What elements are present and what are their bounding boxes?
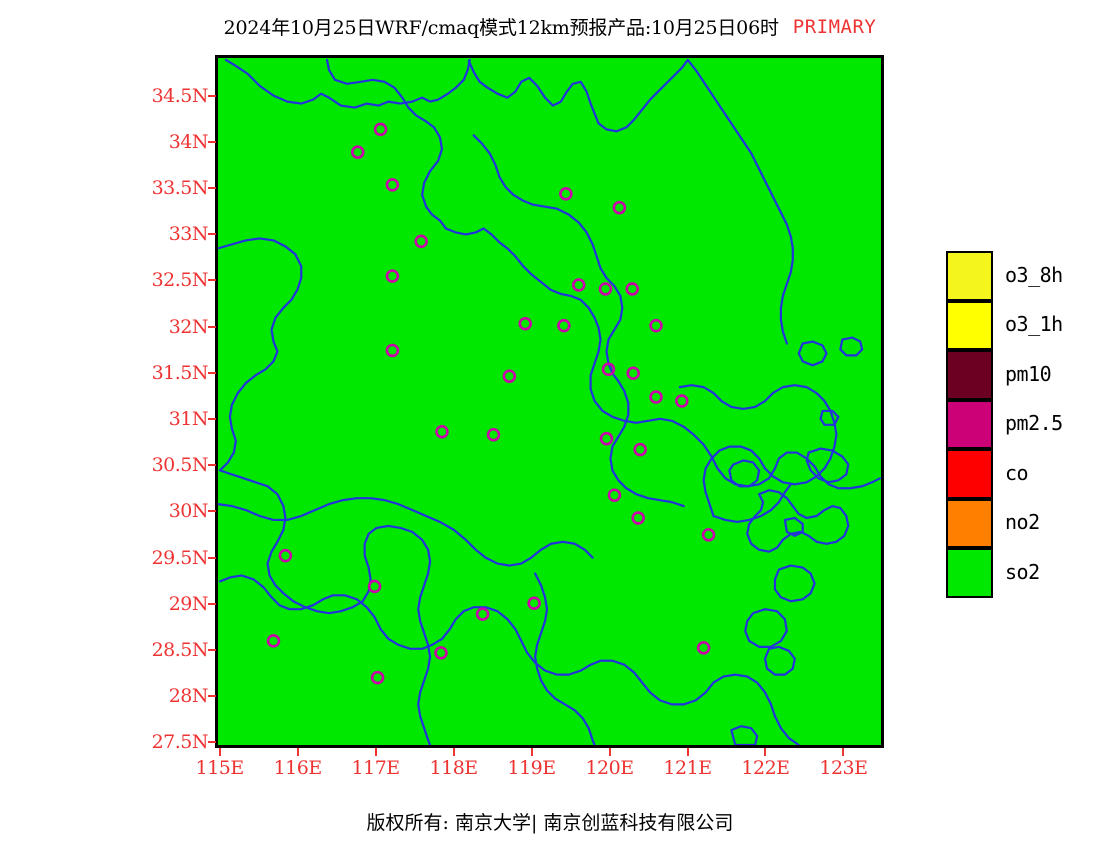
- x-axis-tick-mark: [297, 748, 299, 756]
- x-axis-tick-label: 120E: [585, 757, 633, 779]
- legend-color-swatch: [946, 499, 993, 549]
- x-axis-tick-label: 119E: [507, 757, 555, 779]
- legend-item-label: o3_8h: [1005, 263, 1063, 287]
- legend-item[interactable]: co: [946, 448, 1096, 498]
- legend-color-swatch: [946, 449, 993, 499]
- x-axis-tick-mark: [764, 748, 766, 756]
- legend-item[interactable]: pm10: [946, 349, 1096, 399]
- legend-item-label: pm10: [1005, 362, 1051, 386]
- x-axis-tick-mark: [687, 748, 689, 756]
- legend-item-label: no2: [1005, 510, 1040, 534]
- x-axis-tick-mark: [453, 748, 455, 756]
- legend-item[interactable]: no2: [946, 498, 1096, 548]
- x-axis-tick-label: 115E: [196, 757, 244, 779]
- legend-item-label: so2: [1005, 560, 1040, 584]
- legend-color-swatch: [946, 400, 993, 450]
- pollutant-legend[interactable]: o3_8ho3_1hpm10pm2.5cono2so2: [946, 250, 1096, 597]
- x-axis-tick-mark: [609, 748, 611, 756]
- legend-item-label: o3_1h: [1005, 312, 1063, 336]
- legend-item-label: co: [1005, 461, 1028, 485]
- x-axis-tick-mark: [531, 748, 533, 756]
- legend-color-swatch: [946, 350, 993, 400]
- x-axis-tick-mark: [375, 748, 377, 756]
- legend-item[interactable]: so2: [946, 547, 1096, 597]
- legend-item[interactable]: o3_1h: [946, 300, 1096, 350]
- legend-item[interactable]: o3_8h: [946, 250, 1096, 300]
- x-axis-tick-label: 123E: [819, 757, 867, 779]
- x-axis-tick-mark: [842, 748, 844, 756]
- x-axis-tick-label: 122E: [741, 757, 789, 779]
- legend-item[interactable]: pm2.5: [946, 399, 1096, 449]
- copyright-footer: 版权所有: 南京大学| 南京创蓝科技有限公司: [0, 808, 1100, 835]
- legend-item-label: pm2.5: [1005, 411, 1063, 435]
- legend-color-swatch: [946, 301, 993, 351]
- legend-color-swatch: [946, 548, 993, 598]
- x-axis-tick-label: 116E: [274, 757, 322, 779]
- x-axis-tick-mark: [219, 748, 221, 756]
- x-axis-tick-label: 121E: [663, 757, 711, 779]
- x-axis-tick-label: 118E: [430, 757, 478, 779]
- legend-color-swatch: [946, 251, 993, 301]
- x-axis-tick-label: 117E: [352, 757, 400, 779]
- x-axis-labels: 115E116E117E118E119E120E121E122E123E: [0, 0, 1100, 850]
